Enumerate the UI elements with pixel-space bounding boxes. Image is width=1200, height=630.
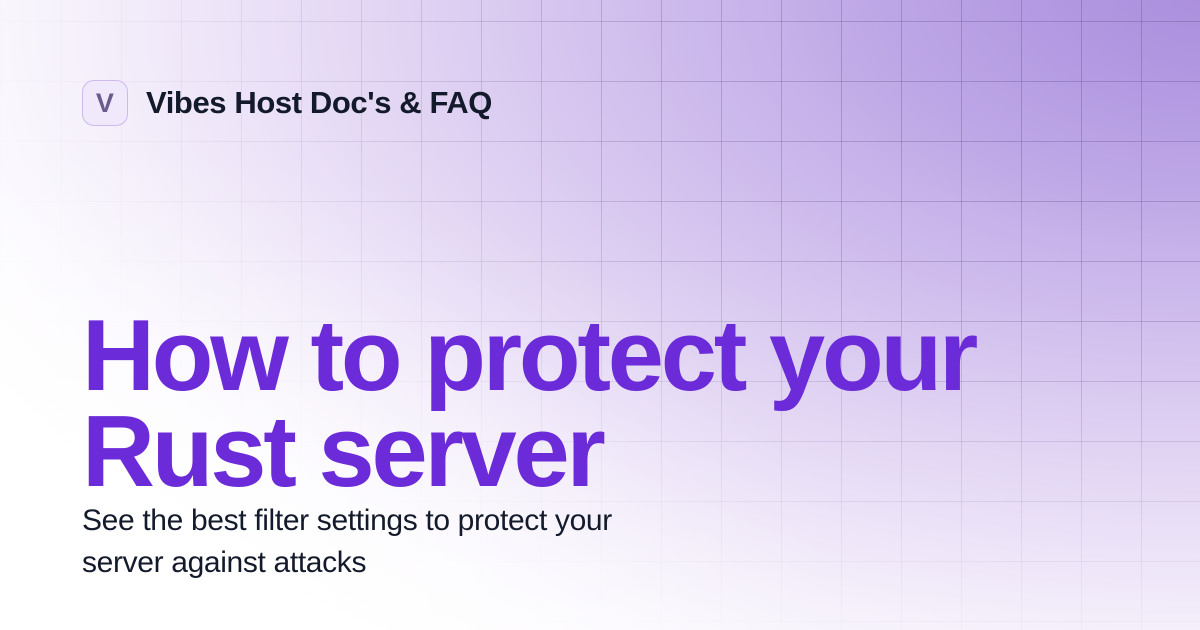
page-title-line-2: Rust server (82, 404, 1082, 500)
brand-header: V Vibes Host Doc's & FAQ (82, 80, 492, 126)
page-subtitle: See the best filter settings to protect … (82, 500, 842, 584)
logo-letter: V (96, 90, 114, 117)
page-title-line-1: How to protect your (82, 308, 1082, 404)
page-title: How to protect your Rust server (82, 308, 1082, 500)
vibes-host-logo-icon: V (82, 80, 128, 126)
og-card: V Vibes Host Doc's & FAQ How to protect … (0, 0, 1200, 630)
page-subtitle-line-1: See the best filter settings to protect … (82, 500, 842, 542)
page-subtitle-line-2: server against attacks (82, 542, 842, 584)
brand-title: Vibes Host Doc's & FAQ (146, 85, 492, 121)
card-content: V Vibes Host Doc's & FAQ How to protect … (0, 0, 1200, 630)
